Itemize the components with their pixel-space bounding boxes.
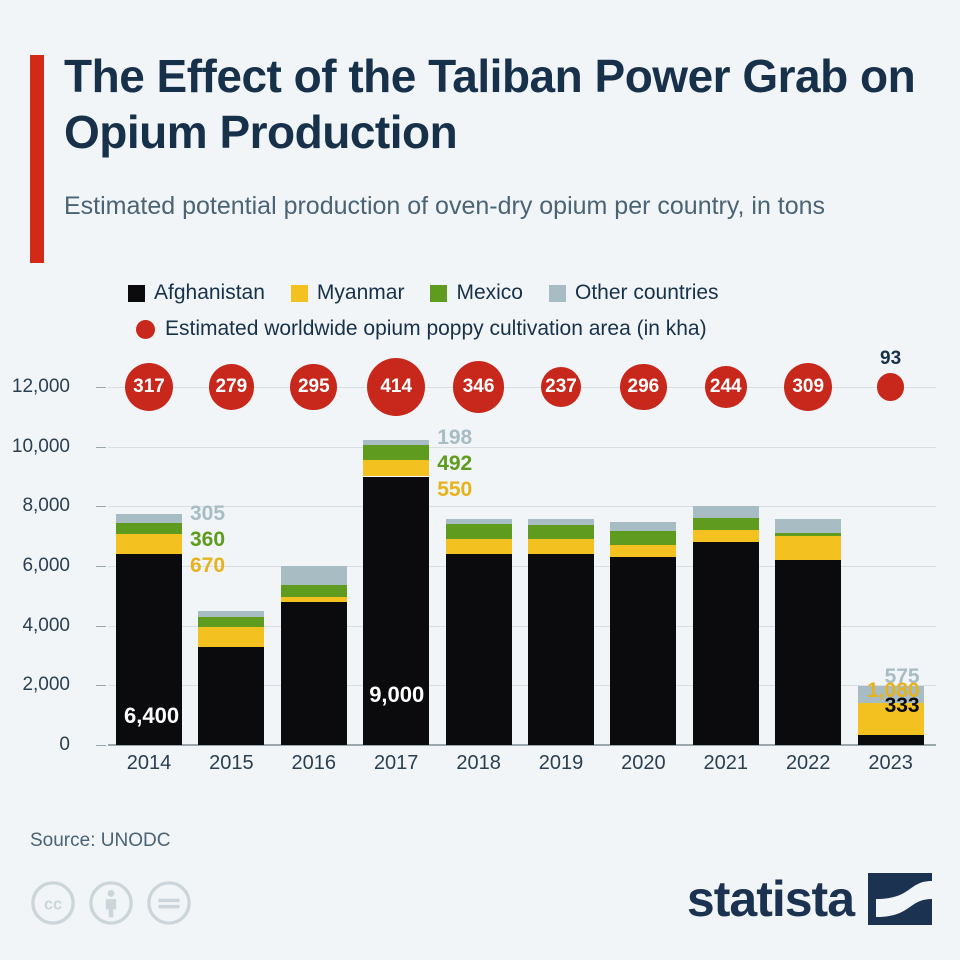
x-axis-label-2017: 2017: [363, 752, 429, 775]
y-axis-tick-mark: [96, 506, 106, 507]
bar-2021[interactable]: [693, 360, 759, 745]
y-axis-tick-label: 6,000: [0, 555, 70, 577]
page-subtitle: Estimated potential production of oven-d…: [64, 188, 864, 224]
source-note: Source: UNODC: [30, 830, 170, 852]
x-axis-label-2021: 2021: [693, 752, 759, 775]
legend-label-mexico: Mexico: [456, 281, 523, 305]
page-title: The Effect of the Taliban Power Grab on …: [64, 48, 944, 160]
legend-label-other-countries: Other countries: [575, 281, 719, 305]
bar-segment-afghanistan-2016[interactable]: [281, 602, 347, 745]
y-axis-tick-label: 2,000: [0, 674, 70, 696]
x-axis-label-2020: 2020: [610, 752, 676, 775]
legend-label-myanmar: Myanmar: [317, 281, 405, 305]
bar-segment-other-countries-2015[interactable]: [198, 611, 264, 616]
bar-segment-myanmar-2020[interactable]: [610, 545, 676, 557]
x-axis-label-2022: 2022: [775, 752, 841, 775]
x-axis-label-2015: 2015: [198, 752, 264, 775]
bar-segment-afghanistan-2019[interactable]: [528, 554, 594, 745]
cultivation-bubble-2023[interactable]: [877, 373, 904, 400]
statista-infographic: The Effect of the Taliban Power Grab on …: [0, 0, 960, 960]
attribution-icon: [88, 880, 134, 926]
bar-segment-myanmar-2022[interactable]: [775, 536, 841, 560]
bar-2020[interactable]: [610, 360, 676, 745]
bar-segment-myanmar-2014[interactable]: [116, 534, 182, 554]
legend-label-cultivation-area: Estimated worldwide opium poppy cultivat…: [165, 317, 707, 341]
data-label-mexico-2017: 492: [437, 452, 472, 476]
bar-2014[interactable]: [116, 360, 182, 745]
legend-item-other-countries[interactable]: Other countries: [549, 281, 719, 305]
y-axis-tick-mark: [96, 626, 106, 627]
y-axis-tick-mark: [96, 745, 106, 746]
bar-2019[interactable]: [528, 360, 594, 745]
legend-swatch-other-countries: [549, 285, 566, 302]
statista-mark-icon: [868, 873, 932, 925]
data-label-afghanistan-2017: 9,000: [369, 682, 424, 708]
bar-segment-mexico-2018[interactable]: [446, 524, 512, 538]
bar-segment-myanmar-2016[interactable]: [281, 597, 347, 601]
legend-label-afghanistan: Afghanistan: [154, 281, 265, 305]
data-label-myanmar-2014: 670: [190, 554, 225, 578]
data-label-other-2017: 198: [437, 426, 472, 450]
bar-segment-other-countries-2018[interactable]: [446, 519, 512, 524]
y-axis-tick-mark: [96, 387, 106, 388]
bar-segment-mexico-2014[interactable]: [116, 523, 182, 534]
bar-segment-myanmar-2017[interactable]: [363, 460, 429, 476]
y-axis-tick-mark: [96, 685, 106, 686]
statista-wordmark: statista: [687, 874, 854, 924]
bar-segment-afghanistan-2021[interactable]: [693, 542, 759, 745]
x-axis-label-2023: 2023: [858, 752, 924, 775]
cultivation-bubble-label-2023: 93: [858, 348, 924, 370]
bar-2015[interactable]: [198, 360, 264, 745]
bar-2022[interactable]: [775, 360, 841, 745]
bar-segment-afghanistan-2015[interactable]: [198, 647, 264, 745]
legend-dot-cultivation-area: [136, 320, 155, 339]
legend-swatch-myanmar: [291, 285, 308, 302]
bar-segment-other-countries-2014[interactable]: [116, 514, 182, 523]
bar-segment-mexico-2017[interactable]: [363, 445, 429, 460]
cultivation-bubble-2017[interactable]: 414: [367, 358, 425, 416]
x-axis-label-2019: 2019: [528, 752, 594, 775]
bar-segment-mexico-2021[interactable]: [693, 518, 759, 529]
statista-logo: statista: [687, 873, 932, 925]
bar-segment-other-countries-2019[interactable]: [528, 519, 594, 525]
bar-segment-other-countries-2016[interactable]: [281, 566, 347, 585]
legend-item-afghanistan[interactable]: Afghanistan: [128, 281, 265, 305]
cultivation-bubble-2018[interactable]: 346: [453, 361, 505, 413]
legend-swatch-mexico: [430, 285, 447, 302]
bar-segment-myanmar-2019[interactable]: [528, 539, 594, 554]
data-label-mexico-2014: 360: [190, 528, 225, 552]
cultivation-bubble-2020[interactable]: 296: [620, 364, 667, 411]
bar-segment-mexico-2016[interactable]: [281, 585, 347, 598]
legend-item-mexico[interactable]: Mexico: [430, 281, 523, 305]
y-axis-tick-label: 10,000: [0, 436, 70, 458]
legend-item-myanmar[interactable]: Myanmar: [291, 281, 405, 305]
bar-segment-myanmar-2021[interactable]: [693, 530, 759, 543]
y-axis-tick-label: 8,000: [0, 495, 70, 517]
bar-segment-afghanistan-2018[interactable]: [446, 554, 512, 745]
cultivation-bubble-2016[interactable]: 295: [290, 364, 337, 411]
plot-region: 02,0004,0006,0008,00010,00012,0002014317…: [108, 360, 936, 745]
bar-segment-mexico-2022[interactable]: [775, 533, 841, 536]
legend-bubble-row[interactable]: Estimated worldwide opium poppy cultivat…: [136, 317, 707, 341]
data-label-afghanistan-2014: 6,400: [124, 703, 179, 729]
bar-segment-other-countries-2017[interactable]: [363, 440, 429, 446]
bar-segment-mexico-2020[interactable]: [610, 531, 676, 545]
x-axis-label-2016: 2016: [281, 752, 347, 775]
y-axis-tick-label: 4,000: [0, 615, 70, 637]
cultivation-bubble-2021[interactable]: 244: [705, 366, 747, 408]
bar-segment-other-countries-2020[interactable]: [610, 522, 676, 531]
bar-segment-afghanistan-2020[interactable]: [610, 557, 676, 745]
title-accent-bar: [30, 55, 44, 263]
data-label-myanmar-2017: 550: [437, 478, 472, 502]
bar-segment-other-countries-2022[interactable]: [775, 519, 841, 533]
chart-area: 02,0004,0006,0008,00010,00012,0002014317…: [0, 360, 960, 790]
bar-segment-mexico-2015[interactable]: [198, 617, 264, 627]
data-label-other-2014: 305: [190, 502, 225, 526]
x-axis-label-2018: 2018: [446, 752, 512, 775]
legend-swatch-afghanistan: [128, 285, 145, 302]
creative-commons-icon: cc: [30, 880, 76, 926]
no-derivatives-icon: [146, 880, 192, 926]
creative-commons-badges: cc: [30, 880, 192, 926]
y-axis-tick-mark: [96, 447, 106, 448]
legend-series-row: Afghanistan Myanmar Mexico Other countri…: [128, 281, 719, 305]
cultivation-bubble-2022[interactable]: 309: [784, 363, 832, 411]
bar-2016[interactable]: [281, 360, 347, 745]
bar-segment-myanmar-2018[interactable]: [446, 539, 512, 555]
bar-segment-myanmar-2015[interactable]: [198, 627, 264, 646]
bar-segment-afghanistan-2023[interactable]: [858, 735, 924, 745]
bar-2018[interactable]: [446, 360, 512, 745]
bar-segment-afghanistan-2022[interactable]: [775, 560, 841, 745]
y-axis-tick-mark: [96, 566, 106, 567]
svg-text:cc: cc: [44, 896, 62, 914]
y-axis-tick-label: 0: [0, 734, 70, 756]
bar-segment-mexico-2019[interactable]: [528, 525, 594, 539]
cultivation-bubble-2015[interactable]: 279: [209, 364, 254, 409]
x-axis-label-2014: 2014: [116, 752, 182, 775]
y-axis-tick-label: 12,000: [0, 376, 70, 398]
bar-segment-other-countries-2021[interactable]: [693, 506, 759, 518]
data-label-afghanistan-2023: 333: [885, 694, 920, 718]
